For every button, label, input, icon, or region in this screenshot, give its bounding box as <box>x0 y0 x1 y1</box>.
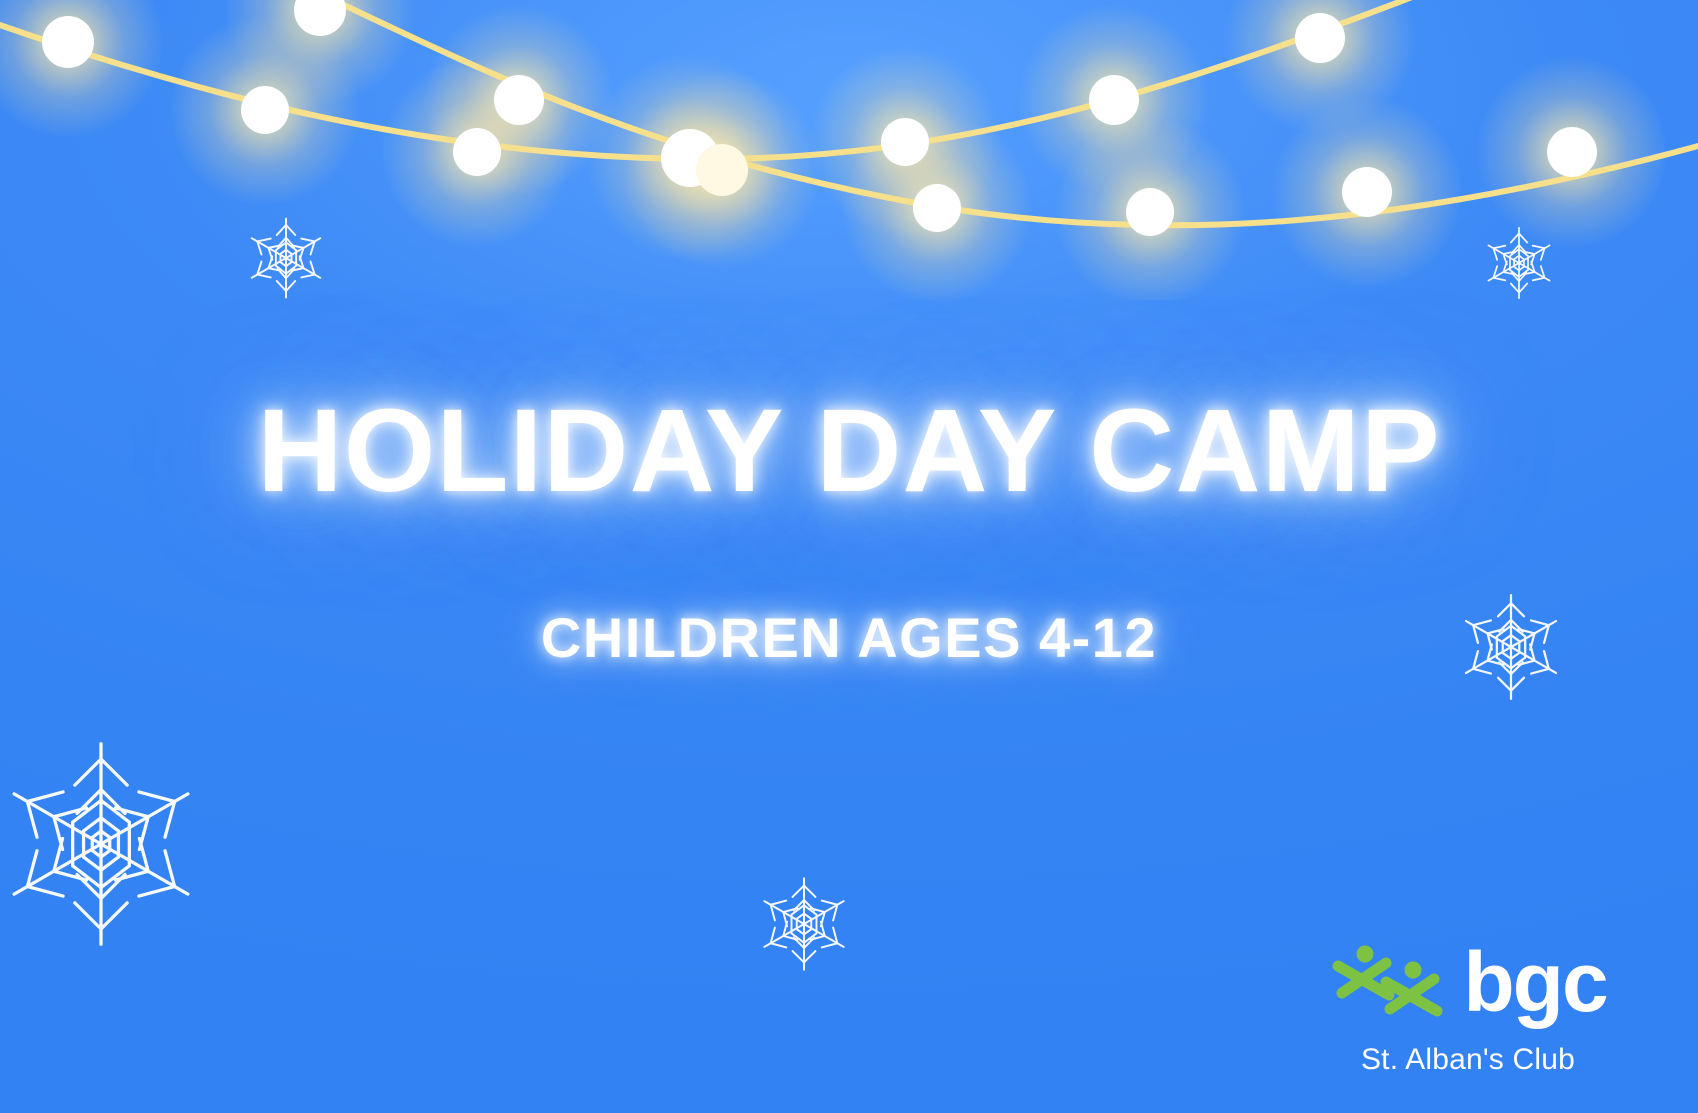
snowflake-bottom-left-icon <box>0 735 210 953</box>
light-bulb <box>1295 13 1345 63</box>
headline-container: HOLIDAY DAY CAMP <box>0 392 1698 510</box>
light-bulb <box>42 16 94 68</box>
snowflake-top-right-icon <box>1478 222 1560 304</box>
light-bulb <box>294 0 346 36</box>
string-lights-decoration <box>0 0 1698 300</box>
light-bulb <box>1126 188 1174 236</box>
light-bulb <box>1342 167 1392 217</box>
bgc-wordmark: bgc <box>1463 947 1606 1018</box>
light-bulb <box>661 129 719 187</box>
bgc-logo: bgc St. Alban's Club <box>1278 937 1658 1077</box>
light-bulb <box>494 75 544 125</box>
page-subtitle: CHILDREN AGES 4-12 <box>0 610 1698 666</box>
light-wire-upper <box>0 0 1420 159</box>
snowflake-bottom-center-icon <box>752 872 856 976</box>
logo-row: bgc <box>1278 937 1658 1029</box>
light-bulbs-lower <box>294 0 1597 236</box>
light-bulb <box>1547 127 1597 177</box>
logo-tagline: St. Alban's Club <box>1278 1043 1658 1077</box>
subheadline-container: CHILDREN AGES 4-12 <box>0 610 1698 666</box>
light-glows-upper <box>0 0 1416 262</box>
light-bulb <box>453 128 501 176</box>
snowflake-top-left-icon <box>240 212 332 304</box>
light-bulb <box>881 118 929 166</box>
light-bulb <box>913 184 961 232</box>
light-bulbs-upper <box>42 13 1345 187</box>
light-glows-lower <box>224 0 1668 300</box>
bgc-people-mark-icon <box>1329 941 1447 1025</box>
light-bulb <box>696 144 748 196</box>
holiday-camp-poster: HOLIDAY DAY CAMP CHILDREN AGES 4-12 <box>0 0 1698 1113</box>
light-wire-lower <box>300 0 1698 225</box>
light-bulb <box>1089 75 1139 125</box>
page-title: HOLIDAY DAY CAMP <box>0 392 1698 510</box>
light-bulb <box>241 86 289 134</box>
